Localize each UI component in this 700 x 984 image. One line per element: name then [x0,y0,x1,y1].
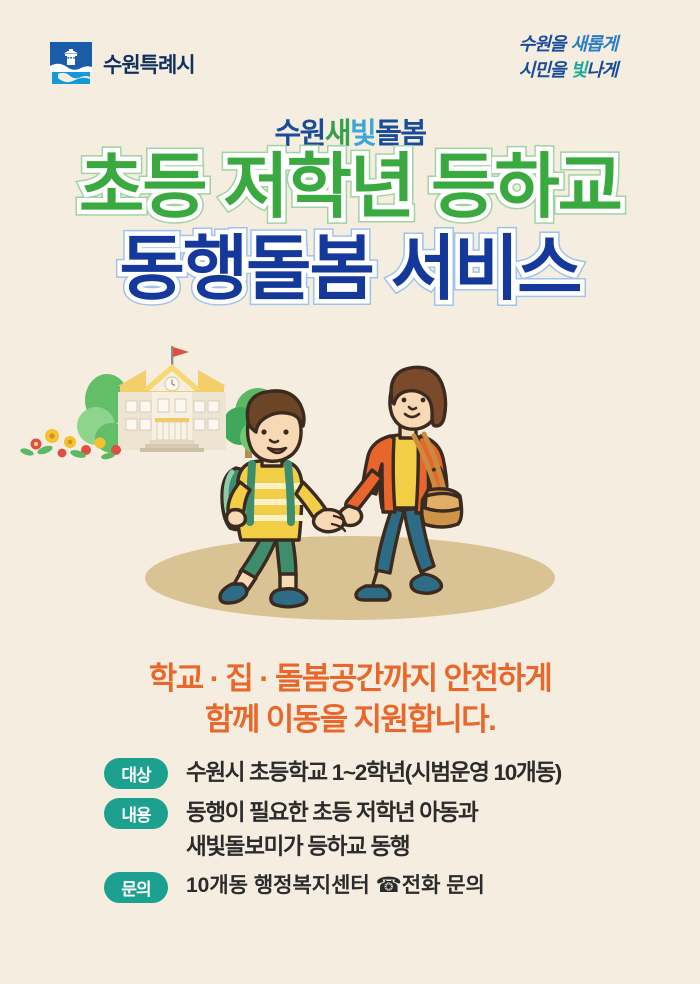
slogan-line2-part3: 나게 [586,60,617,81]
city-name-label: 수원특례시 [103,49,195,79]
city-brand: 수원특례시 [50,42,195,86]
poster-header: 수원특례시 수원을 새롭게 시민을 빛나게 [0,0,700,110]
service-message: 학교 · 집 · 돌봄공간까지 안전하게 함께 이동을 지원합니다. [0,658,700,740]
slogan-line1-part1: 수원을 [519,34,571,55]
info-row-target-text: 수원시 초등학교 1~2학년(시범운영 10개동) [186,756,561,789]
slogan-line-2: 시민을 빛나게 [478,58,658,84]
suwon-city-emblem-icon [50,42,92,86]
info-row-content-line-1: 동행이 필요한 초등 저학년 아동과 [186,796,477,829]
headline-line-1: 초등 저학년 등하교 [0,152,700,223]
badge-content: 내용 [104,798,168,829]
brand-part-bit: 빛 [350,118,375,150]
slogan-line-1: 수원을 새롭게 [478,32,658,58]
service-message-line-1: 학교 · 집 · 돌봄공간까지 안전하게 [0,658,700,699]
info-row-content: 내용 동행이 필요한 초등 저학년 아동과 새빛돌보미가 등하교 동행 [104,796,664,863]
info-row-target: 대상 수원시 초등학교 1~2학년(시범운영 10개동) [104,756,664,789]
slogan-line2-part1: 시민을 [519,60,571,81]
slogan-line1-part2: 새롭게 [571,34,618,55]
badge-target: 대상 [104,758,168,789]
ground-ellipse [145,536,555,620]
poster-canvas: 수원특례시 수원을 새롭게 시민을 빛나게 수원새빛돌봄 초등 저학년 등하교 … [0,0,700,984]
brand-part-dolbom: 돌봄 [375,118,425,150]
info-row-inquiry: 문의 10개동 행정복지센터 ☎전화 문의 [104,870,664,903]
info-row-target-line-1: 수원시 초등학교 1~2학년(시범운영 10개동) [186,756,561,789]
info-row-content-text: 동행이 필요한 초등 저학년 아동과 새빛돌보미가 등하교 동행 [186,796,477,863]
brand-part-suwon: 수원 [274,118,324,150]
school-building-icon [118,346,226,452]
city-slogan: 수원을 새롭게 시민을 빛나게 [478,32,658,83]
info-list: 대상 수원시 초등학교 1~2학년(시범운영 10개동) 내용 동행이 필요한 … [104,756,664,910]
info-row-inquiry-text: 10개동 행정복지센터 ☎전화 문의 [186,870,485,901]
headline-line-2: 동행돌봄 서비스 [0,234,700,305]
brand-part-sae: 새 [325,118,350,150]
service-message-line-2: 함께 이동을 지원합니다. [0,699,700,740]
badge-inquiry: 문의 [104,872,168,903]
info-row-content-line-2: 새빛돌보미가 등하교 동행 [186,830,477,863]
program-brand-name: 수원새빛돌봄 [0,110,700,152]
slogan-line2-part2: 빛 [571,60,587,81]
main-illustration [0,340,700,630]
info-row-inquiry-line-1: 10개동 행정복지센터 ☎전화 문의 [186,870,485,901]
